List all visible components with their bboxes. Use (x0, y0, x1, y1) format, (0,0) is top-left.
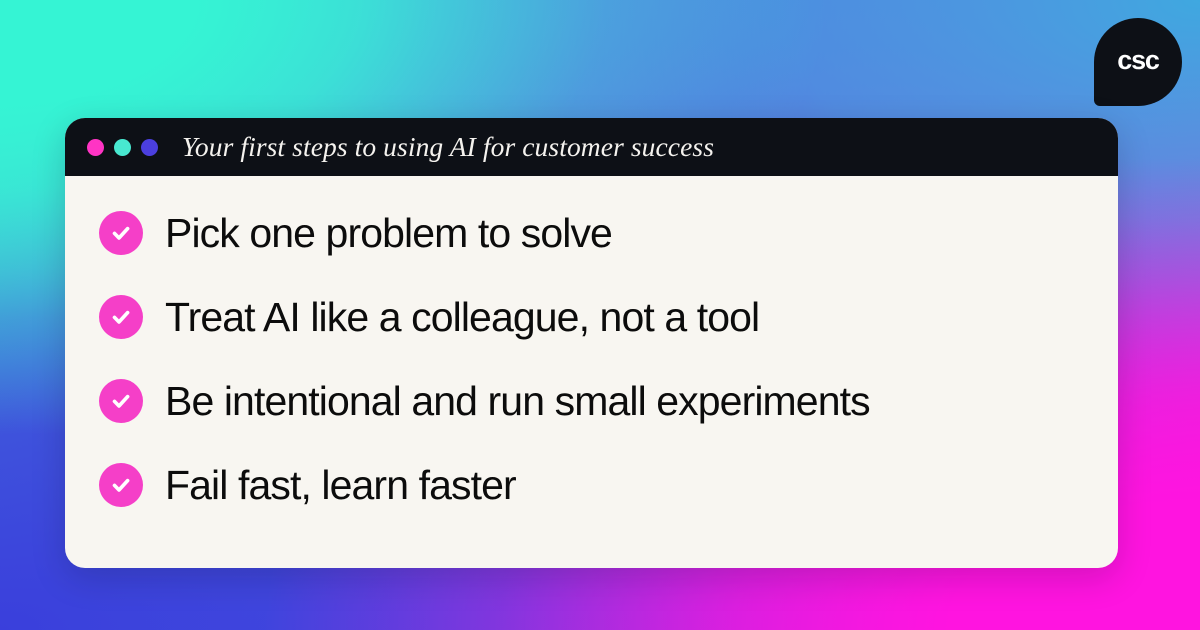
list-item: Pick one problem to solve (99, 202, 1084, 264)
slide-canvas: csc Your first steps to using AI for cus… (0, 0, 1200, 630)
check-circle-icon (99, 463, 143, 507)
list-item-label: Fail fast, learn faster (165, 465, 516, 506)
list-item: Treat AI like a colleague, not a tool (99, 286, 1084, 348)
list-item-label: Be intentional and run small experiments (165, 381, 870, 422)
csc-logo: csc (1094, 18, 1182, 106)
window-dot-violet-icon[interactable] (141, 139, 158, 156)
check-circle-icon (99, 295, 143, 339)
logo-wordmark: csc (1117, 47, 1158, 74)
browser-window-card: Your first steps to using AI for custome… (65, 118, 1118, 568)
list-item-label: Pick one problem to solve (165, 213, 612, 254)
list-item: Be intentional and run small experiments (99, 370, 1084, 432)
window-dot-pink-icon[interactable] (87, 139, 104, 156)
list-item-label: Treat AI like a colleague, not a tool (165, 297, 759, 338)
list-item: Fail fast, learn faster (99, 454, 1084, 516)
check-circle-icon (99, 379, 143, 423)
window-dot-cyan-icon[interactable] (114, 139, 131, 156)
window-title: Your first steps to using AI for custome… (182, 131, 714, 163)
checklist: Pick one problem to solve Treat AI like … (65, 176, 1118, 568)
check-circle-icon (99, 211, 143, 255)
window-controls (87, 139, 158, 156)
window-titlebar: Your first steps to using AI for custome… (65, 118, 1118, 176)
